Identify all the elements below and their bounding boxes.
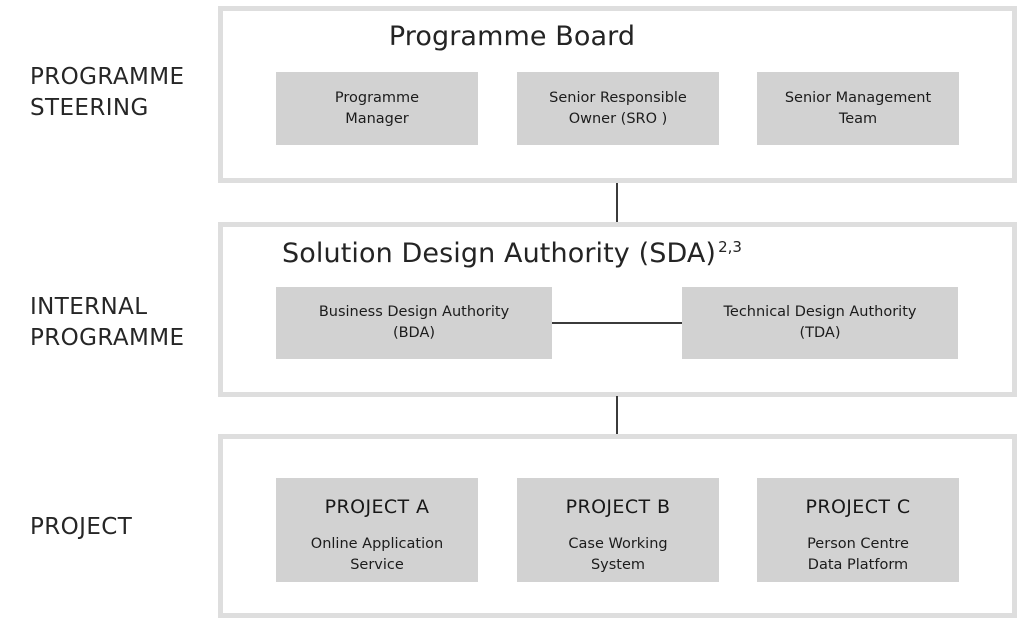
node-programme-manager[interactable]: Programme Manager (276, 72, 478, 145)
tier-label-internal-programme: INTERNAL PROGRAMME (30, 292, 220, 355)
governance-diagram: PROGRAMME STEERING Programme Board Progr… (0, 0, 1024, 627)
node-project-b-code: PROJECT B (566, 496, 671, 518)
node-senior-responsible-owner-label: Senior Responsible Owner (SRO ) (549, 88, 687, 129)
node-senior-management-team-label: Senior Management Team (785, 88, 931, 129)
connector-bda-to-tda (552, 322, 682, 324)
node-senior-management-team[interactable]: Senior Management Team (757, 72, 959, 145)
tier-heading-programme-board: Programme Board (0, 21, 1024, 52)
tier-heading-text: Programme Board (389, 21, 635, 52)
tier-label-programme-steering: PROGRAMME STEERING (30, 62, 220, 125)
connector-internal-to-project (616, 396, 618, 435)
tier-heading-solution-design-authority: Solution Design Authority (SDA)2,3 (0, 238, 1024, 269)
node-project-a-code: PROJECT A (325, 496, 430, 518)
connector-steering-to-internal (616, 183, 618, 223)
node-project-c-name: Person Centre Data Platform (807, 534, 909, 575)
node-project-b-name: Case Working System (568, 534, 667, 575)
node-project-c-code: PROJECT C (805, 496, 910, 518)
tier-heading-footnote-marker: 2,3 (718, 238, 742, 256)
node-project-c[interactable]: PROJECT C Person Centre Data Platform (757, 478, 959, 582)
node-project-a[interactable]: PROJECT A Online Application Service (276, 478, 478, 582)
tier-label-project: PROJECT (30, 512, 220, 543)
node-technical-design-authority[interactable]: Technical Design Authority (TDA) (682, 287, 958, 359)
tier-heading-text: Solution Design Authority (SDA) (282, 238, 716, 269)
node-project-a-name: Online Application Service (311, 534, 443, 575)
node-programme-manager-label: Programme Manager (335, 88, 419, 129)
node-technical-design-authority-label: Technical Design Authority (TDA) (724, 302, 917, 343)
node-business-design-authority[interactable]: Business Design Authority (BDA) (276, 287, 552, 359)
node-business-design-authority-label: Business Design Authority (BDA) (319, 302, 509, 343)
node-project-b[interactable]: PROJECT B Case Working System (517, 478, 719, 582)
node-senior-responsible-owner[interactable]: Senior Responsible Owner (SRO ) (517, 72, 719, 145)
